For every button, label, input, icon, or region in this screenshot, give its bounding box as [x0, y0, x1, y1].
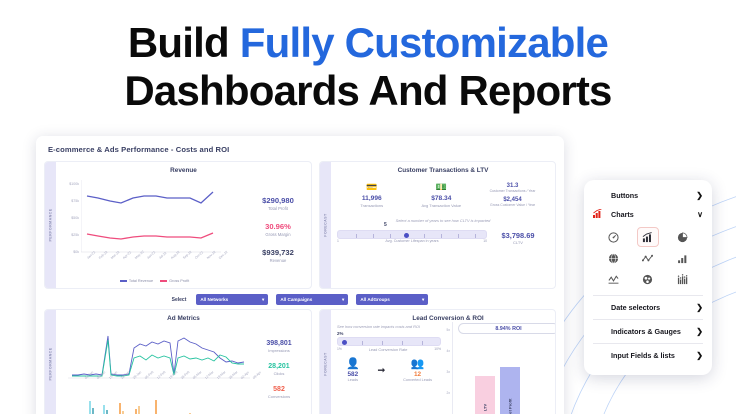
revenue-legend: Total Revenue Gross Profit — [62, 279, 247, 283]
ad-metrics-secondary-bars — [68, 397, 250, 414]
filter-bar: Select All Networks ▾ All Campaigns ▾ Al… — [44, 294, 556, 305]
lead-conversion-slider-label: Lead Conversion Rate — [369, 347, 408, 352]
stat-total-profit-label: Total Profit — [251, 206, 305, 211]
kpi-transactions-value: 11,996 — [337, 195, 407, 202]
filter-bar-label: Select — [172, 297, 187, 303]
filter-select-networks-value: All Networks — [200, 297, 228, 302]
widget-menu: Buttons ❯ Charts ∨ — [584, 180, 712, 375]
revenue-legend-label-1: Gross Profit — [169, 279, 189, 283]
stat-gross-margin: 30.96% Gross Margin — [251, 222, 305, 237]
roi-bar-net-profit-label: Net Profit — [508, 399, 513, 414]
ad-metrics-panel: PERFORMANCE Ad Metrics — [44, 309, 312, 414]
column-chart-icon[interactable] — [672, 248, 694, 268]
lead-conversion-hint: See how conversion rate impacts costs an… — [337, 324, 441, 329]
cltv-output-value: $3,798.69 — [487, 231, 549, 240]
roi-ytick-3: 2x — [447, 391, 450, 395]
lead-conversion-panel: FORECAST Lead Conversion & ROI See how c… — [319, 309, 556, 414]
revenue-ytick-4: $0k — [73, 250, 79, 254]
revenue-legend-swatch-0 — [120, 280, 127, 281]
vertical-tab-performance-2[interactable]: PERFORMANCE — [45, 310, 56, 414]
menu-group-input-fields-lists[interactable]: Input Fields & lists ❯ — [584, 346, 712, 365]
cltv-slider-knob[interactable] — [404, 233, 409, 238]
revenue-chart-wrap: $100k $75k $50k $25k $0k — [62, 174, 305, 284]
revenue-x-axis: Jan-22 Feb-22 Mar-22 Apr-22 May-22 Jun-2… — [82, 257, 245, 273]
menu-group-input-fields-lists-label: Input Fields & lists — [593, 351, 696, 360]
stat-total-profit: $290,980 Total Profit — [251, 196, 305, 211]
ad-metrics-body: Ad Metrics 01-Jan 08-Jan — [56, 310, 311, 414]
chevron-down-icon: ▾ — [342, 297, 344, 303]
funnel-leads: 👤 582 Leads — [346, 359, 360, 382]
lead-conversion-slider-knob[interactable] — [342, 340, 347, 345]
chevron-right-icon: ❯ — [696, 191, 703, 200]
kpi-avg-transaction-value-label: Avg Transaction Value — [407, 203, 477, 208]
vertical-tab-performance-label: PERFORMANCE — [49, 208, 53, 241]
revenue-legend-item-0: Total Revenue — [120, 279, 153, 283]
side-stat-1-label: Gross Customer Value / Year — [476, 203, 549, 207]
ad-metrics-x-axis: 01-Jan 08-Jan 15-Jan 22-Jan 29-Jan 05-Fe… — [82, 377, 251, 393]
chevron-down-icon: ▾ — [262, 297, 264, 303]
stat-conversions-label: Conversions — [253, 394, 305, 399]
arrow-right-icon: ➞ — [378, 365, 386, 376]
dashboard-row-top: PERFORMANCE Revenue $100k $75k $50k $25k — [44, 161, 556, 289]
kpi-transactions-label: Transactions — [337, 203, 407, 208]
cltv-slider[interactable]: 5 1 Avg. Customer — [337, 230, 487, 245]
revenue-plot — [81, 180, 221, 256]
cltv-slider-track[interactable] — [337, 230, 487, 239]
funnel-leads-label: Leads — [346, 378, 360, 382]
revenue-y-axis: $100k $75k $50k $25k $0k — [62, 182, 80, 256]
bar-chart-red-icon — [593, 209, 607, 220]
ltv-kpi-row: 💳 11,996 Transactions 💵 $78.34 Avg Trans… — [337, 182, 549, 208]
ltv-panel-title: Customer Transactions & LTV — [337, 167, 549, 174]
menu-group-indicators-gauges-label: Indicators & Gauges — [593, 327, 696, 336]
funnel-converted-label: Converted Leads — [403, 378, 432, 382]
line-chart-icon[interactable] — [602, 269, 624, 289]
menu-group-charts-label: Charts — [607, 210, 697, 219]
lead-conversion-left: See how conversion rate impacts costs an… — [337, 322, 441, 414]
scatter-chart-icon[interactable] — [637, 248, 659, 268]
revenue-ytick-0: $100k — [69, 182, 79, 186]
roi-badge: 8.94% ROI — [458, 323, 556, 334]
stat-gross-margin-value: 30.96% — [251, 222, 305, 231]
roi-ytick-2: 3x — [447, 370, 450, 374]
dashboard-card: E-commerce & Ads Performance - Costs and… — [36, 136, 564, 414]
page-headline: Build Fully Customizable Dashboards And … — [0, 22, 736, 113]
cltv-slider-value: 5 — [384, 222, 387, 228]
stat-revenue: $939,732 Revenue — [251, 248, 305, 263]
cltv-slider-max: 10 — [483, 239, 487, 243]
funnel-converted: 👥 12 Converted Leads — [403, 359, 432, 382]
lead-conversion-slider-value: 2% — [337, 331, 441, 336]
roi-ytick-1: 4x — [447, 349, 450, 353]
chevron-right-icon: ❯ — [696, 351, 703, 360]
funnel-converted-value: 12 — [403, 371, 432, 378]
revenue-line-chart[interactable]: $100k $75k $50k $25k $0k — [62, 174, 247, 284]
kpi-avg-transaction-value: 💵 $78.34 Avg Transaction Value — [407, 182, 477, 208]
revenue-chart-title: Revenue — [62, 167, 305, 174]
chart-icon-grid — [584, 224, 712, 293]
menu-divider-1 — [593, 295, 703, 296]
funnel-leads-value: 582 — [346, 371, 360, 378]
chevron-down-icon: ▾ — [422, 297, 424, 303]
person-icon: 👤 — [346, 359, 360, 370]
roi-chart-column: 5x 4x 3x 2x 8.94% ROI LTV — [441, 322, 556, 414]
ad-metrics-title: Ad Metrics — [62, 315, 305, 322]
lead-funnel: 👤 582 Leads ➞ 👥 12 Converted Leads — [337, 359, 441, 382]
stat-revenue-label: Revenue — [251, 258, 305, 263]
vertical-tab-performance[interactable]: PERFORMANCE — [45, 162, 56, 288]
stat-total-profit-value: $290,980 — [251, 196, 305, 205]
roi-bar-ltv[interactable]: LTV — [475, 376, 495, 414]
dashboard-row-bottom: PERFORMANCE Ad Metrics — [44, 309, 556, 414]
stat-impressions-value: 398,801 — [253, 340, 305, 347]
lead-conversion-slider-track[interactable] — [337, 337, 441, 346]
menu-group-charts[interactable]: Charts ∨ — [584, 205, 712, 224]
sphere-chart-icon[interactable] — [602, 248, 624, 268]
dashboard-title: E-commerce & Ads Performance - Costs and… — [36, 136, 564, 161]
filter-select-networks[interactable]: All Networks ▾ — [196, 294, 268, 305]
stat-gross-margin-label: Gross Margin — [251, 232, 305, 237]
ltv-panel-body: Customer Transactions & LTV 💳 11,996 Tra… — [331, 162, 555, 288]
roi-bar-net-profit[interactable]: Net Profit — [500, 367, 520, 414]
stat-conversions: 582 Conversions — [253, 386, 305, 399]
lead-conversion-slider-scale: 1% Lead Conversion Rate 10% — [337, 347, 441, 352]
vertical-tab-forecast-label: FORECAST — [324, 213, 328, 236]
filter-select-adgroups[interactable]: All AdGroups ▾ — [356, 294, 428, 305]
revenue-legend-swatch-1 — [160, 280, 167, 281]
pie-chart-icon[interactable] — [672, 227, 694, 247]
kpi-transactions: 💳 11,996 Transactions — [337, 182, 407, 208]
filter-select-campaigns[interactable]: All Campaigns ▾ — [276, 294, 348, 305]
vertical-tab-performance-2-label: PERFORMANCE — [49, 347, 53, 380]
side-stat-0-label: Customer Transactions / Year — [476, 189, 549, 193]
menu-group-buttons[interactable]: Buttons ❯ — [584, 186, 712, 205]
roi-chart[interactable]: 8.94% ROI LTV Net Profit — [453, 322, 556, 414]
lead-conversion-slider-min: 1% — [337, 347, 342, 352]
cltv-slider-row: 5 1 Avg. Customer — [337, 230, 549, 245]
lead-conversion-body: Lead Conversion & ROI See how conversion… — [331, 310, 556, 414]
revenue-legend-item-1: Gross Profit — [160, 279, 189, 283]
page-root: Build Fully Customizable Dashboards And … — [0, 0, 736, 414]
stat-impressions: 398,801 Impressions — [253, 340, 305, 353]
roi-bars: LTV Net Profit — [475, 362, 520, 414]
ad-metrics-wrap: 01-Jan 08-Jan 15-Jan 22-Jan 29-Jan 05-Fe… — [62, 322, 305, 414]
vertical-tab-forecast-2[interactable]: FORECAST — [320, 310, 331, 414]
ltv-side-stats: 31.3 Customer Transactions / Year $2,454… — [476, 182, 549, 207]
lead-conversion-slider-max: 10% — [434, 347, 441, 352]
vertical-tab-forecast-2-label: FORECAST — [324, 352, 328, 375]
menu-group-date-selectors-label: Date selectors — [593, 303, 696, 312]
chevron-right-icon: ❯ — [696, 327, 703, 336]
grouped-bar-chart-icon[interactable] — [672, 269, 694, 289]
ad-metrics-stats: 398,801 Impressions 28,201 Clicks 582 Co… — [253, 322, 305, 414]
headline-line-1: Build Fully Customizable — [0, 22, 736, 65]
gauge-chart-icon[interactable] — [602, 227, 624, 247]
menu-group-indicators-gauges[interactable]: Indicators & Gauges ❯ — [584, 322, 712, 341]
headline-text-accent: Fully Customizable — [240, 19, 608, 66]
revenue-ytick-2: $50k — [71, 216, 79, 220]
revenue-stats: $290,980 Total Profit 30.96% Gross Margi… — [247, 174, 305, 284]
roi-y-axis: 5x 4x 3x 2x — [441, 322, 453, 414]
headline-text-plain: Build — [128, 19, 240, 66]
lead-conversion-columns: See how conversion rate impacts costs an… — [337, 322, 556, 414]
revenue-panel-body: Revenue $100k $75k $50k $25k $0k — [56, 162, 311, 288]
stat-conversions-value: 582 — [253, 386, 305, 393]
filter-select-adgroups-value: All AdGroups — [360, 297, 389, 302]
lead-conversion-title: Lead Conversion & ROI — [337, 315, 556, 322]
chevron-down-icon: ∨ — [697, 210, 703, 219]
revenue-legend-label-0: Total Revenue — [129, 279, 153, 283]
banknote-icon: 💵 — [407, 182, 477, 192]
ltv-hint: Select a number of years to see how CLTV… — [337, 218, 549, 223]
stat-impressions-label: Impressions — [253, 348, 305, 353]
roi-bar-ltv-label: LTV — [483, 404, 488, 411]
ltv-panel: FORECAST Customer Transactions & LTV 💳 1… — [319, 161, 556, 289]
stat-clicks-value: 28,201 — [253, 363, 305, 370]
credit-card-icon: 💳 — [337, 182, 407, 192]
dashboard-body: PERFORMANCE Revenue $100k $75k $50k $25k — [36, 161, 564, 414]
menu-divider-3 — [593, 343, 703, 344]
bubble-chart-icon[interactable] — [637, 269, 659, 289]
ad-metrics-chart[interactable]: 01-Jan 08-Jan 15-Jan 22-Jan 29-Jan 05-Fe… — [62, 322, 253, 414]
vertical-tab-forecast[interactable]: FORECAST — [320, 162, 331, 288]
revenue-panel: PERFORMANCE Revenue $100k $75k $50k $25k — [44, 161, 312, 289]
revenue-ytick-1: $75k — [71, 199, 79, 203]
revenue-ytick-3: $25k — [71, 233, 79, 237]
cltv-output-label: CLTV — [487, 240, 549, 245]
cltv-output: $3,798.69 CLTV — [487, 231, 549, 245]
bar-chart-icon[interactable] — [637, 227, 659, 247]
kpi-avg-transaction-value-value: $78.34 — [407, 195, 477, 202]
roi-ytick-0: 5x — [447, 328, 450, 332]
menu-divider-2 — [593, 319, 703, 320]
chevron-right-icon: ❯ — [696, 303, 703, 312]
person-converted-icon: 👥 — [403, 359, 432, 370]
menu-group-date-selectors[interactable]: Date selectors ❯ — [584, 298, 712, 317]
headline-line-2: Dashboards And Reports — [0, 70, 736, 113]
stat-revenue-value: $939,732 — [251, 248, 305, 257]
cltv-slider-label: Avg. Customer Lifespan in years — [337, 239, 487, 243]
filter-select-campaigns-value: All Campaigns — [280, 297, 312, 302]
menu-group-buttons-label: Buttons — [593, 191, 696, 200]
cltv-slider-scale: 1 Avg. Customer Lifespan in years 10 — [337, 239, 487, 245]
